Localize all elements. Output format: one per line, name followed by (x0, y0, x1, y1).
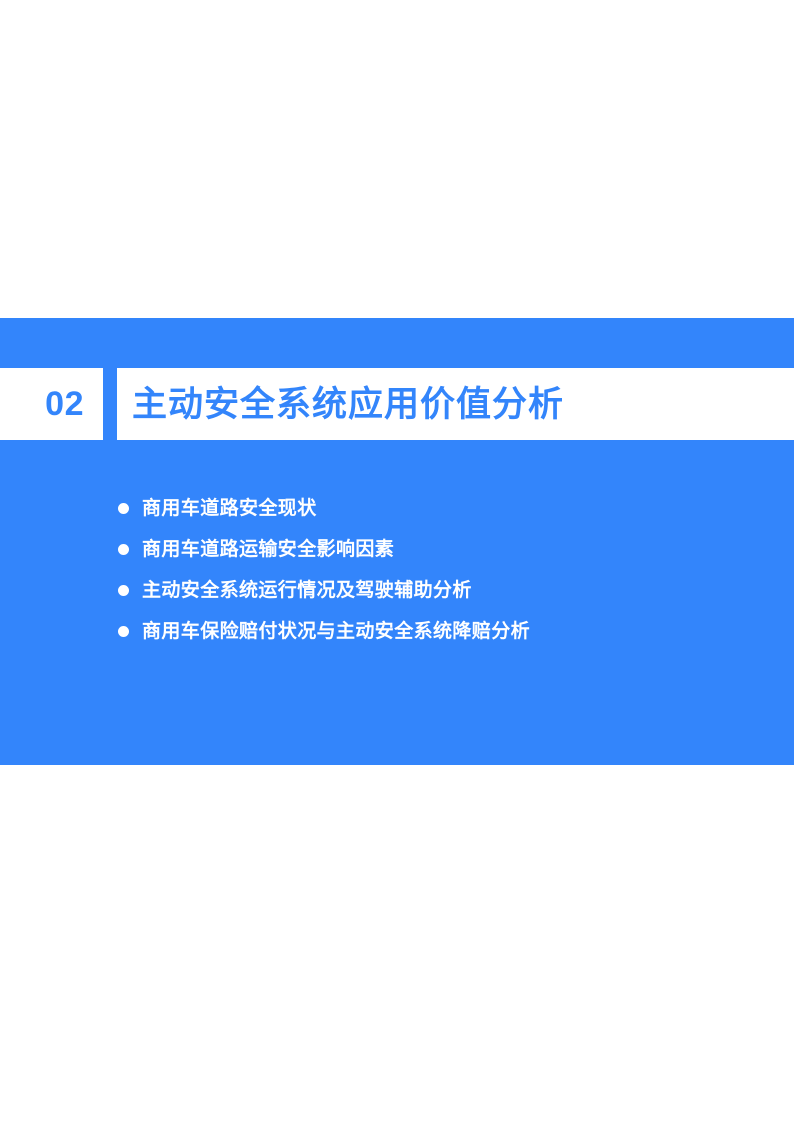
list-item-label: 商用车保险赔付状况与主动安全系统降赔分析 (142, 622, 530, 641)
bullet-dot-icon (118, 626, 129, 637)
bullet-dot-icon (118, 544, 129, 555)
section-divider-panel: 02 主动安全系统应用价值分析 商用车道路安全现状 商用车道路运输安全影响因素 … (0, 318, 794, 765)
list-item-label: 商用车道路运输安全影响因素 (142, 540, 394, 559)
list-item-label: 商用车道路安全现状 (142, 499, 317, 518)
list-item: 商用车道路运输安全影响因素 (118, 529, 530, 570)
section-number-box: 02 (0, 368, 103, 440)
bullet-dot-icon (118, 503, 129, 514)
list-item: 商用车保险赔付状况与主动安全系统降赔分析 (118, 611, 530, 652)
section-agenda-list: 商用车道路安全现状 商用车道路运输安全影响因素 主动安全系统运行情况及驾驶辅助分… (118, 488, 530, 652)
section-title-box: 主动安全系统应用价值分析 (117, 368, 794, 440)
section-title-band: 02 主动安全系统应用价值分析 (0, 368, 794, 440)
list-item: 商用车道路安全现状 (118, 488, 530, 529)
list-item: 主动安全系统运行情况及驾驶辅助分析 (118, 570, 530, 611)
bullet-dot-icon (118, 585, 129, 596)
list-item-label: 主动安全系统运行情况及驾驶辅助分析 (142, 581, 472, 600)
title-divider-bar (103, 368, 117, 440)
section-number: 02 (45, 387, 84, 421)
section-title: 主动安全系统应用价值分析 (132, 387, 564, 422)
